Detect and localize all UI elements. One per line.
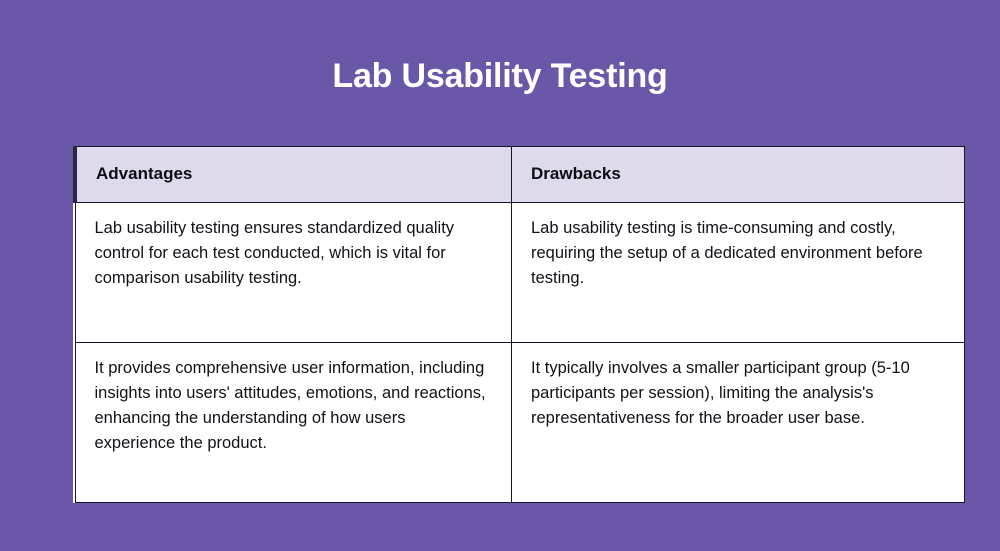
- cell-drawbacks-1: Lab usability testing is time-consuming …: [512, 203, 965, 343]
- cell-drawbacks-2: It typically involves a smaller particip…: [512, 343, 965, 503]
- comparison-table: Advantages Drawbacks Lab usability testi…: [73, 146, 965, 503]
- page-title: Lab Usability Testing: [0, 55, 1000, 97]
- table-header: Advantages Drawbacks: [75, 147, 965, 203]
- table-header-row: Advantages Drawbacks: [75, 147, 965, 203]
- slide-canvas: Lab Usability Testing Advantages Drawbac…: [0, 0, 1000, 551]
- cell-advantages-2: It provides comprehensive user informati…: [75, 343, 512, 503]
- table-body: Lab usability testing ensures standardiz…: [75, 203, 965, 503]
- column-header-advantages: Advantages: [75, 147, 512, 203]
- comparison-table-container: Advantages Drawbacks Lab usability testi…: [73, 146, 925, 503]
- table-row: Lab usability testing ensures standardiz…: [75, 203, 965, 343]
- column-header-drawbacks: Drawbacks: [512, 147, 965, 203]
- table-row: It provides comprehensive user informati…: [75, 343, 965, 503]
- cell-advantages-1: Lab usability testing ensures standardiz…: [75, 203, 512, 343]
